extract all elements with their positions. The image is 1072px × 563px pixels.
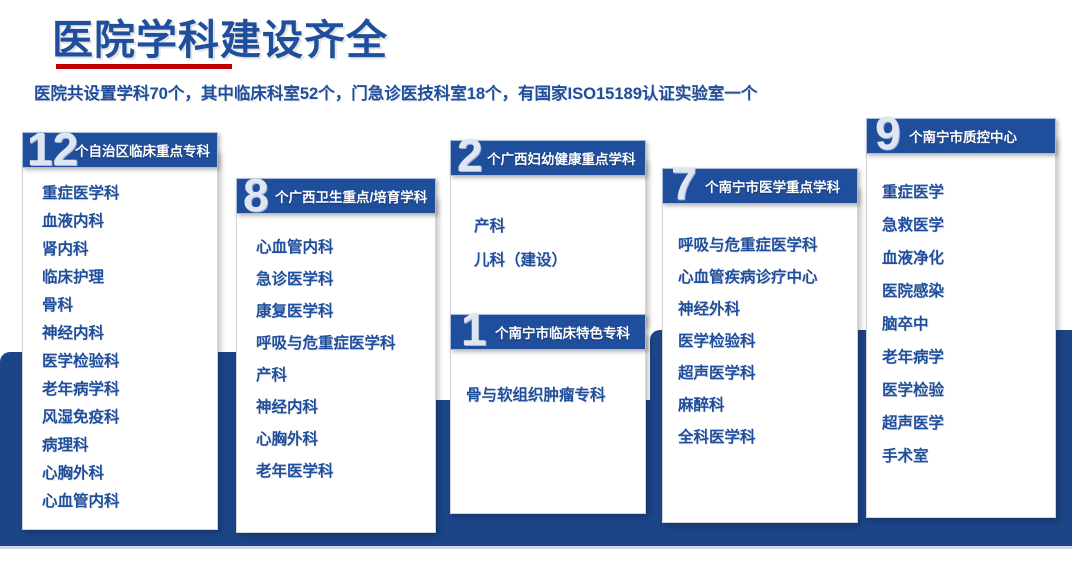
title-underline [56,64,232,69]
card-number: 12 [27,129,78,169]
card-header[interactable]: 9 个南宁市质控中心 [866,118,1056,154]
list-item: 心血管内科 [42,488,218,516]
list-item: 神经内科 [42,320,218,348]
list-item: 呼吸与危重症医学科 [256,328,436,360]
list-item: 风湿免疫科 [42,404,218,432]
list-item: 急救医学 [882,209,1056,242]
page-subtitle: 医院共设置学科70个，其中临床科室52个，门急诊医技科室18个，有国家ISO15… [34,80,757,104]
card-item-list: 呼吸与危重症医学科 心血管疾病诊疗中心 神经外科 医学检验科 超声医学科 麻醉科… [662,230,858,454]
list-item: 康复医学科 [256,296,436,328]
list-item: 产科 [256,360,436,392]
page-title: 医院学科建设齐全 [52,6,388,66]
list-item: 骨与软组织肿瘤专科 [466,382,646,410]
backdrop-bottom-rule [0,546,1072,549]
card-number: 1 [461,309,487,349]
list-item: 手术室 [882,440,1056,473]
list-item: 医学检验 [882,374,1056,407]
card-item-list: 重症医学 急救医学 血液净化 医院感染 脑卒中 老年病学 医学检验 超声医学 手… [866,176,1056,473]
list-item: 超声医学科 [678,358,858,390]
card-number: 2 [457,135,483,175]
card-header-label: 个南宁市临床特色专科 [495,322,630,342]
list-item: 儿科（建设） [474,244,646,278]
card-number: 7 [671,163,697,203]
list-item: 医学检验科 [678,326,858,358]
card-number: 8 [243,175,269,215]
list-item: 产科 [474,210,646,244]
list-item: 脑卒中 [882,308,1056,341]
list-item: 急诊医学科 [256,264,436,296]
slide-canvas: 医院学科建设齐全 医院共设置学科70个，其中临床科室52个，门急诊医技科室18个… [0,0,1072,563]
card-header-label: 个自治区临床重点专科 [75,140,210,160]
card-number: 9 [875,113,901,153]
card-body [450,332,646,514]
card-header[interactable]: 7 个南宁市医学重点学科 [662,168,858,204]
card-item-list: 心血管内科 急诊医学科 康复医学科 呼吸与危重症医学科 产科 神经内科 心胸外科… [236,232,436,488]
card-nanning-medical-key-disciplines[interactable]: 7 个南宁市医学重点学科 呼吸与危重症医学科 心血管疾病诊疗中心 神经外科 医学… [662,168,858,523]
card-header[interactable]: 2 个广西妇幼健康重点学科 [450,140,646,176]
list-item: 血液净化 [882,242,1056,275]
list-item: 重症医学 [882,176,1056,209]
list-item: 老年病学 [882,341,1056,374]
card-item-list: 重症医学科 血液内科 肾内科 临床护理 骨科 神经内科 医学检验科 老年病学科 … [22,180,218,516]
list-item: 血液内科 [42,208,218,236]
list-item: 医院感染 [882,275,1056,308]
card-header[interactable]: 1 个南宁市临床特色专科 [450,314,646,350]
list-item: 医学检验科 [42,348,218,376]
card-nanning-quality-control-centers[interactable]: 9 个南宁市质控中心 重症医学 急救医学 血液净化 医院感染 脑卒中 老年病学 … [866,118,1056,518]
list-item: 临床护理 [42,264,218,292]
card-item-list: 骨与软组织肿瘤专科 [450,382,646,410]
card-header-label: 个广西妇幼健康重点学科 [487,148,636,168]
list-item: 神经外科 [678,294,858,326]
list-item: 麻醉科 [678,390,858,422]
list-item: 肾内科 [42,236,218,264]
card-item-list: 产科 儿科（建设） [450,210,646,278]
list-item: 神经内科 [256,392,436,424]
list-item: 心胸外科 [42,460,218,488]
card-header[interactable]: 12 个自治区临床重点专科 [22,132,218,168]
list-item: 超声医学 [882,407,1056,440]
card-guangxi-health-key-disciplines[interactable]: 8 个广西卫生重点/培育学科 心血管内科 急诊医学科 康复医学科 呼吸与危重症医… [236,178,436,533]
list-item: 全科医学科 [678,422,858,454]
card-guangxi-maternal-child-key-disciplines[interactable]: 2 个广西妇幼健康重点学科 产科 儿科（建设） [450,140,646,326]
list-item: 重症医学科 [42,180,218,208]
card-header-label: 个南宁市医学重点学科 [705,176,840,196]
list-item: 骨科 [42,292,218,320]
card-header-label: 个广西卫生重点/培育学科 [275,186,427,206]
card-header-label: 个南宁市质控中心 [909,126,1017,146]
list-item: 心胸外科 [256,424,436,456]
list-item: 老年病学科 [42,376,218,404]
list-item: 病理科 [42,432,218,460]
card-header[interactable]: 8 个广西卫生重点/培育学科 [236,178,436,214]
list-item: 呼吸与危重症医学科 [678,230,858,262]
list-item: 心血管内科 [256,232,436,264]
card-nanning-clinical-featured-specialty[interactable]: 1 个南宁市临床特色专科 骨与软组织肿瘤专科 [450,314,646,514]
list-item: 老年医学科 [256,456,436,488]
card-autonomous-region-key-specialties[interactable]: 12 个自治区临床重点专科 重症医学科 血液内科 肾内科 临床护理 骨科 神经内… [22,132,218,530]
list-item: 心血管疾病诊疗中心 [678,262,858,294]
